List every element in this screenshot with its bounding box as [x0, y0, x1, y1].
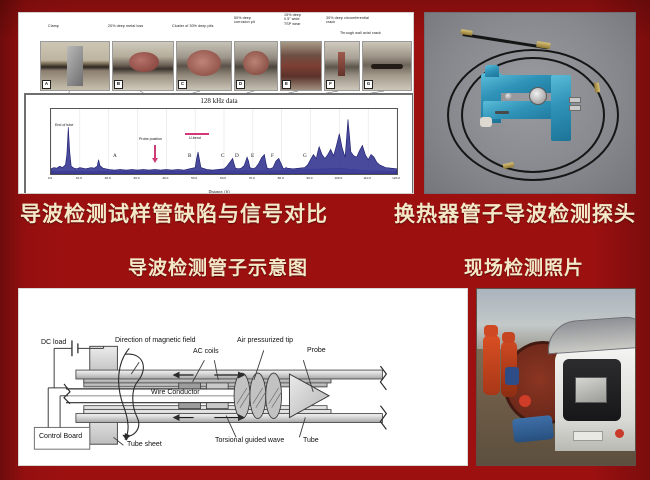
probe-foot-pad	[480, 117, 492, 127]
caption-probe: 换热器管子导波检测探头	[394, 198, 636, 228]
chart-plot-area: End of tube Probe position U-bend A B C …	[50, 108, 398, 175]
probe-body-top-nub	[485, 65, 499, 77]
photo-worker-two-trousers	[505, 367, 519, 385]
caption-field-photo: 现场检测照片	[464, 253, 584, 280]
photo-tail-light	[615, 429, 624, 438]
peak-label-b: B	[188, 153, 191, 159]
probe-side-port-2	[569, 105, 581, 111]
x-tick-label: 70.0	[249, 176, 255, 180]
peak-label-c: C	[221, 153, 224, 159]
chart-svg	[51, 109, 397, 174]
photo-license-plate	[573, 431, 603, 441]
annotation-end-of-tube-left: End of tube	[55, 123, 73, 127]
x-tick-label: 30.0	[133, 176, 139, 180]
probe-photograph	[424, 12, 636, 194]
caption-schematic: 导波检测管子示意图	[128, 253, 308, 280]
probe-side-port	[569, 97, 581, 103]
schematic-label-tube: Tube	[303, 437, 319, 444]
photo-red-helmet-on-ground	[519, 395, 531, 407]
probe-body-front-column	[551, 75, 571, 141]
x-tick-label: 50.0	[191, 176, 197, 180]
photo-worker-one	[483, 335, 500, 395]
annotation-probe-position: Probe position	[139, 137, 162, 141]
x-tick-label: 90.0	[306, 176, 312, 180]
schematic-label-probe: Probe	[307, 347, 326, 354]
probe-small-screw[interactable]	[505, 93, 512, 100]
annotation-ubend: U-bend	[189, 136, 201, 140]
x-tick-label: 80.0	[278, 176, 284, 180]
x-tick-label: 60.0	[220, 176, 226, 180]
guided-wave-signal-chart: 128 kHz data End of tube Probe position …	[24, 93, 414, 194]
defect-signal-comparison-card: Clamp 20% deep metal loss Cluster of 30%…	[18, 12, 414, 194]
peak-label-f: F	[271, 153, 274, 159]
probe-label-strip	[495, 111, 509, 114]
photo-worker-two-helmet	[502, 332, 515, 343]
chart-x-axis-title: Distance, (ft)	[26, 189, 412, 194]
peak-label-e: E	[251, 153, 254, 159]
guided-wave-tube-schematic: DC load Direction of magnetic field AC c…	[18, 288, 468, 466]
defect-thumbnail-strip: Clamp 20% deep metal loss Cluster of 30%…	[22, 15, 412, 93]
photo-blue-mat	[512, 415, 554, 443]
probe-position-arrow	[154, 145, 156, 159]
ubend-range-bar	[185, 133, 209, 135]
probe-thumb-screw[interactable]	[529, 87, 547, 105]
schematic-label-torsional-wave: Torsional guided wave	[215, 437, 284, 444]
schematic-label-air-tip: Air pressurized tip	[237, 337, 293, 344]
caption-defect-signal-comparison: 导波检测试样管缺陷与信号对比	[20, 198, 328, 228]
x-tick-label: 20.0	[105, 176, 111, 180]
chart-title: 128 kHz data	[26, 97, 412, 105]
x-tick-label: 100.0	[334, 176, 342, 180]
x-tick-label: 0.0	[48, 176, 52, 180]
schematic-label-wire-conductor: Wire Conductor	[151, 389, 200, 396]
schematic-label-control-board: Control Board	[39, 433, 82, 440]
photo-worker-one-helmet	[484, 325, 498, 337]
schematic-label-magnetic-field: Direction of magnetic field	[115, 337, 196, 344]
photo-instrument-laptop	[575, 377, 607, 403]
x-tick-label: 10.0	[76, 176, 82, 180]
field-inspection-photograph	[476, 288, 636, 466]
schematic-label-ac-coils: AC coils	[193, 348, 219, 355]
peak-label-a: A	[113, 153, 117, 159]
x-tick-label: 110.0	[363, 176, 371, 180]
schematic-label-tube-sheet: Tube sheet	[127, 441, 162, 448]
peak-label-g: G	[303, 153, 307, 159]
schematic-label-dc-load: DC load	[41, 339, 66, 346]
x-tick-label: 40.0	[162, 176, 168, 180]
peak-label-d: D	[235, 153, 239, 159]
x-tick-label: 120.0	[392, 176, 400, 180]
